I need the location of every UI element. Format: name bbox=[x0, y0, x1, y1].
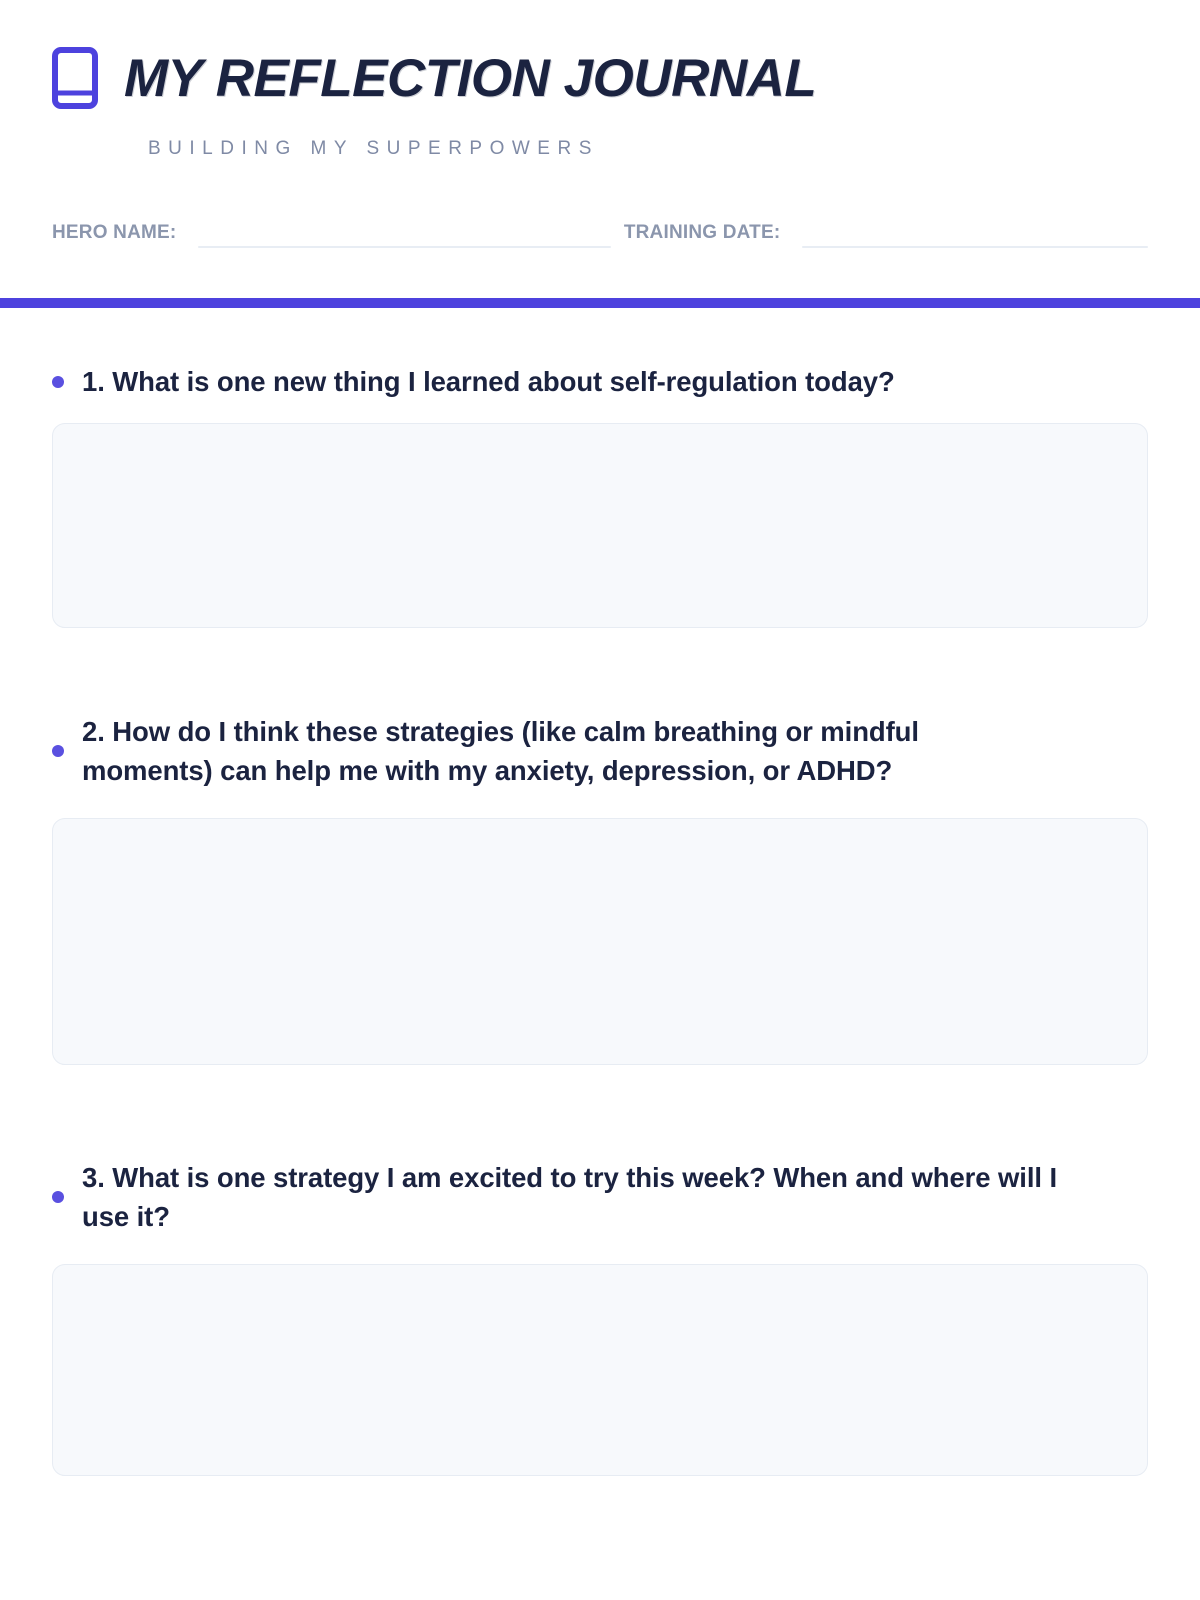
answer-box-2[interactable] bbox=[52, 818, 1148, 1065]
question-3-text: 3. What is one strategy I am excited to … bbox=[82, 1158, 1097, 1236]
hero-name-input-line[interactable] bbox=[198, 246, 610, 248]
question-1-header: 1. What is one new thing I learned about… bbox=[52, 362, 1148, 401]
book-icon bbox=[52, 47, 98, 109]
question-block-1: 1. What is one new thing I learned about… bbox=[52, 362, 1148, 628]
training-date-field[interactable]: TRAINING DATE: bbox=[624, 208, 1148, 248]
reflection-journal-worksheet: MY REFLECTION JOURNAL BUILDING MY SUPERP… bbox=[0, 0, 1200, 1600]
header: MY REFLECTION JOURNAL BUILDING MY SUPERP… bbox=[0, 0, 1200, 160]
training-date-label: TRAINING DATE: bbox=[624, 222, 781, 248]
answer-box-1[interactable] bbox=[52, 423, 1148, 628]
hero-name-label: HERO NAME: bbox=[52, 222, 176, 248]
training-date-input-line[interactable] bbox=[802, 246, 1148, 248]
question-block-2: 2. How do I think these strategies (like… bbox=[52, 712, 1148, 1065]
page-subtitle: BUILDING MY SUPERPOWERS bbox=[148, 138, 1148, 160]
question-2-header: 2. How do I think these strategies (like… bbox=[52, 712, 1148, 790]
bullet-icon bbox=[52, 1191, 64, 1203]
answer-box-3[interactable] bbox=[52, 1264, 1148, 1476]
question-1-text: 1. What is one new thing I learned about… bbox=[82, 362, 895, 401]
question-2-text: 2. How do I think these strategies (like… bbox=[82, 712, 1042, 790]
field-row: HERO NAME: TRAINING DATE: bbox=[52, 208, 1148, 248]
title-row: MY REFLECTION JOURNAL bbox=[52, 40, 1148, 116]
question-block-3: 3. What is one strategy I am excited to … bbox=[52, 1158, 1148, 1476]
hero-name-field[interactable]: HERO NAME: bbox=[52, 208, 611, 248]
page-title: MY REFLECTION JOURNAL bbox=[124, 52, 816, 105]
accent-divider bbox=[0, 298, 1200, 308]
bullet-icon bbox=[52, 745, 64, 757]
question-3-header: 3. What is one strategy I am excited to … bbox=[52, 1158, 1148, 1236]
bullet-icon bbox=[52, 376, 64, 388]
